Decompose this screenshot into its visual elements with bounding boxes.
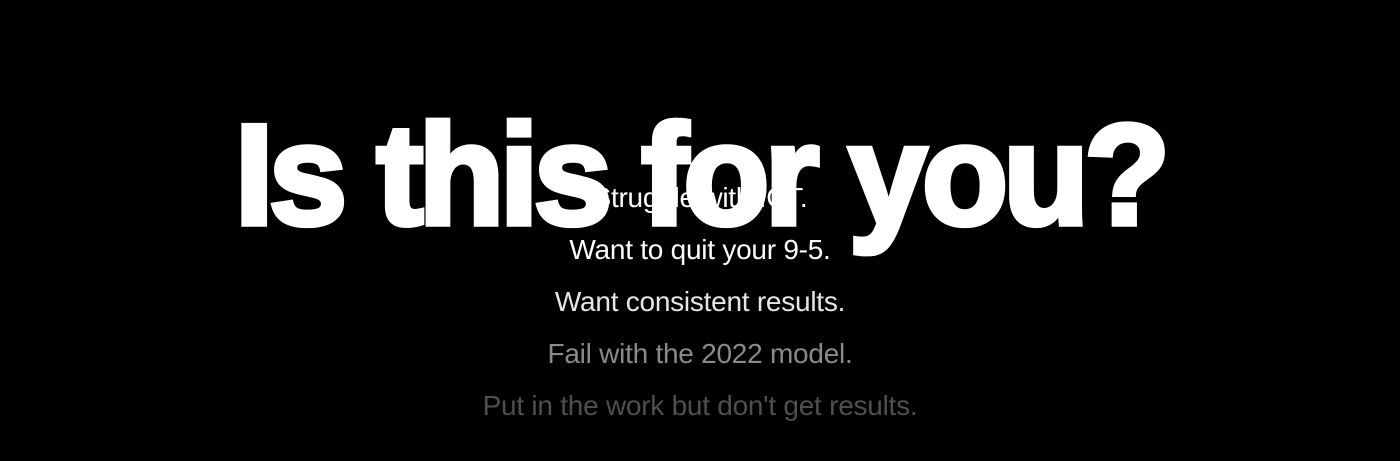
slide-canvas: Is this for you? Struggle with ICT. Want… <box>0 0 1400 461</box>
qualifier-list: Struggle with ICT. Want to quit your 9-5… <box>0 172 1400 432</box>
list-item: Put in the work but don't get results. <box>483 380 918 432</box>
list-item: Want consistent results. <box>555 276 845 328</box>
list-item: Fail with the 2022 model. <box>547 328 852 380</box>
list-item: Want to quit your 9-5. <box>569 224 830 276</box>
list-item: Struggle with ICT. <box>593 172 808 224</box>
